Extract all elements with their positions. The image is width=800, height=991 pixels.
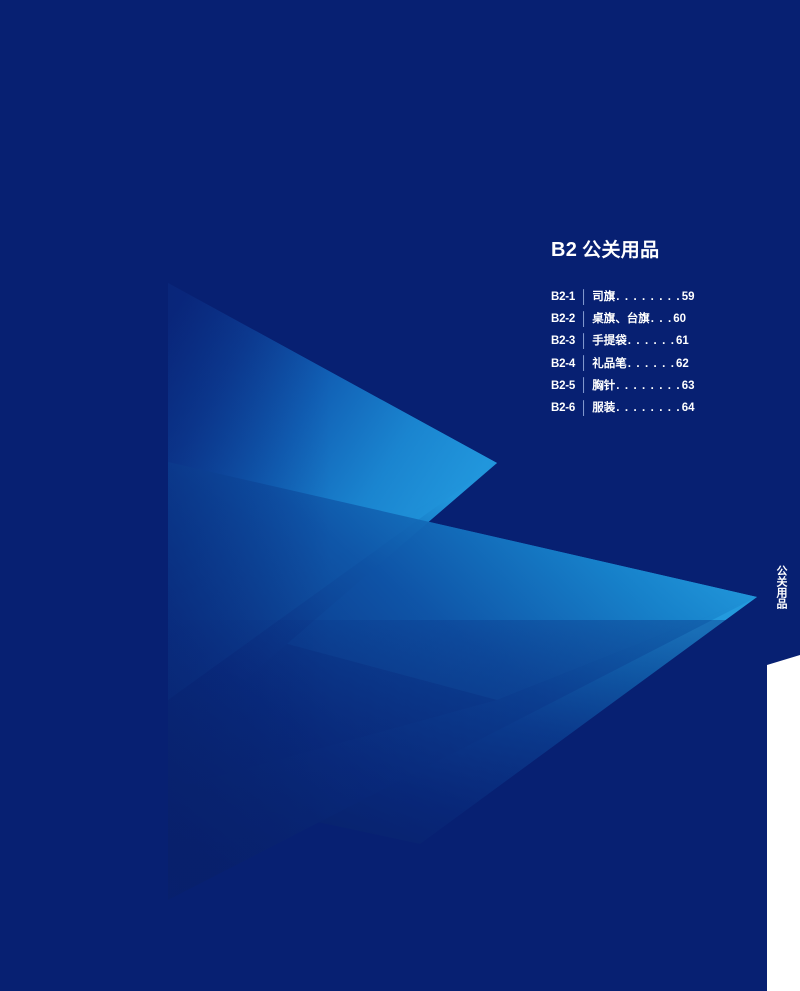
side-tab-cutout (765, 655, 800, 991)
toc-item-label: 手提袋 (592, 330, 627, 351)
page-title-label: 公关用品 (582, 239, 659, 261)
toc-code: B2-5 (551, 376, 575, 397)
toc-code: B2-4 (551, 354, 575, 375)
toc-row[interactable]: B2-1 │ 司旗 . . . . . . . . 59 (551, 286, 751, 308)
toc-separator: │ (580, 312, 588, 325)
toc-leader-dots: . . . . . . . . (616, 398, 680, 419)
toc-separator: │ (580, 290, 588, 303)
bottom-fade-overlay (100, 620, 800, 991)
toc-leader-dots: . . . . . . . . (616, 376, 680, 397)
toc-page-number: 60 (673, 309, 686, 330)
section-divider-page: B2公关用品 B2-1 │ 司旗 . . . . . . . . 59 B2-2… (0, 0, 800, 991)
toc-item-label: 司旗 (592, 286, 615, 307)
toc-row[interactable]: B2-4 │ 礼品笔 . . . . . . 62 (551, 353, 751, 375)
toc-page-number: 64 (682, 398, 695, 419)
toc-leader-dots: . . . . . . (628, 331, 675, 352)
toc-code: B2-2 (551, 309, 575, 330)
toc-page-number: 59 (682, 287, 695, 308)
side-tab-label: 公关用品 (772, 565, 788, 609)
toc-item-label: 礼品笔 (592, 353, 627, 374)
toc-row[interactable]: B2-6 │ 服装 . . . . . . . . 64 (551, 397, 751, 419)
toc-row[interactable]: B2-2 │ 桌旗、台旗 . . . 60 (551, 308, 751, 330)
page-title: B2公关用品 (551, 236, 751, 264)
table-of-contents: B2公关用品 B2-1 │ 司旗 . . . . . . . . 59 B2-2… (551, 236, 751, 419)
toc-separator: │ (580, 401, 588, 414)
toc-item-label: 服装 (592, 397, 615, 418)
toc-row[interactable]: B2-3 │ 手提袋 . . . . . . 61 (551, 330, 751, 352)
chevron-artwork (0, 0, 800, 991)
toc-code: B2-3 (551, 331, 575, 352)
toc-row[interactable]: B2-5 │ 胸针 . . . . . . . . 63 (551, 375, 751, 397)
toc-code: B2-6 (551, 398, 575, 419)
toc-page-number: 61 (676, 331, 689, 352)
page-title-code: B2 (551, 239, 577, 261)
toc-page-number: 63 (682, 376, 695, 397)
toc-leader-dots: . . . . . . . . (616, 287, 680, 308)
toc-item-label: 桌旗、台旗 (592, 308, 650, 329)
toc-leader-dots: . . . (651, 309, 672, 330)
toc-separator: │ (580, 334, 588, 347)
toc-separator: │ (580, 378, 588, 391)
toc-code: B2-1 (551, 287, 575, 308)
toc-page-number: 62 (676, 354, 689, 375)
toc-item-label: 胸针 (592, 375, 615, 396)
toc-separator: │ (580, 356, 588, 369)
toc-leader-dots: . . . . . . (628, 354, 675, 375)
